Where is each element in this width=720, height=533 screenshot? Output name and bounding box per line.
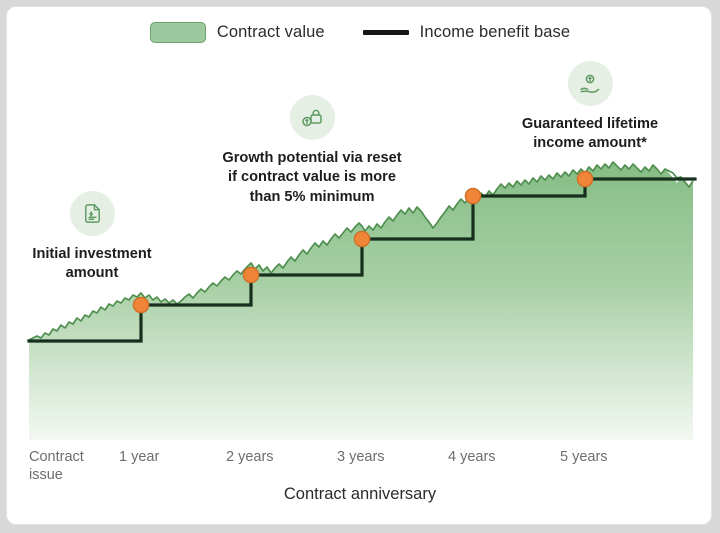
chart-card: Contract value Income benefit base [6,6,712,525]
annotation-label-growth-potential: Growth potential via reset if contract v… [205,149,419,207]
marker-4-years [465,188,480,203]
x-axis-title: Contract anniversary [7,485,712,504]
marker-2-years [243,267,258,282]
x-tick-5-years: 5 years [560,449,608,467]
document-icon [70,191,115,236]
lock-coins-icon [290,95,335,140]
annotation-guaranteed-income: Guaranteed lifetime income amount* [493,61,687,154]
marker-5-years [577,171,592,186]
marker-1-year [133,297,148,312]
x-tick-contract-issue: Contract issue [29,449,84,484]
x-tick-4-years: 4 years [448,449,496,467]
x-tick-1-year: 1 year [119,449,159,467]
annotation-label-initial-investment: Initial investment amount [11,245,173,284]
x-tick-2-years: 2 years [226,449,274,467]
hand-money-icon [568,61,613,106]
annotation-initial-investment: Initial investment amount [11,191,173,284]
marker-3-years [354,231,369,246]
x-tick-3-years: 3 years [337,449,385,467]
x-axis-tick-labels: Contract issue 1 year 2 years 3 years 4 … [7,445,712,485]
annotation-growth-potential: Growth potential via reset if contract v… [205,95,419,207]
annotation-label-guaranteed-income: Guaranteed lifetime income amount* [493,115,687,154]
